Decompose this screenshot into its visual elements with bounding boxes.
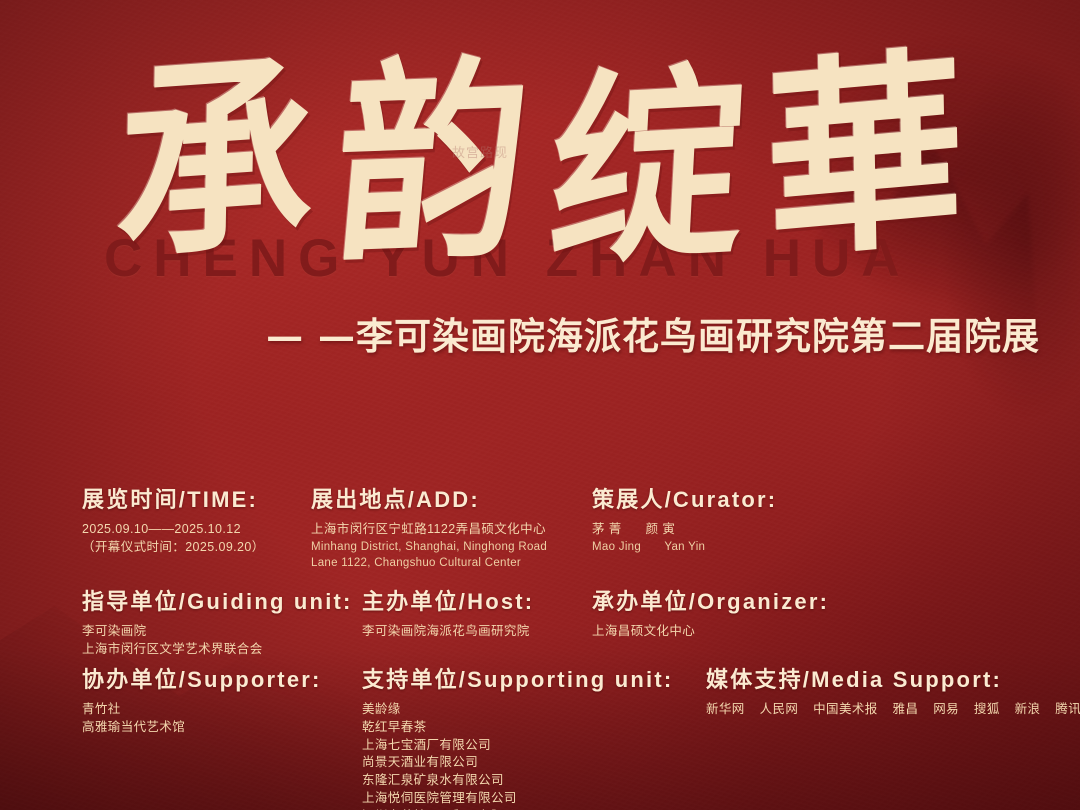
credits-block: 展览时间/TIME: 2025.09.10——2025.10.12 （开幕仪式时… — [0, 468, 1080, 810]
curator-name-cn-1: 茅 菁 — [592, 522, 622, 536]
credit-address: 展出地点/ADD: 上海市闵行区宁虹路1122弄昌硕文化中心 Minhang D… — [311, 482, 547, 571]
credit-supporter: 协办单位/Supporter: 青竹社 高雅瑜当代艺术馆 — [82, 662, 322, 737]
supporting-unit-line-5: 东隆汇泉矿泉水有限公司 — [362, 772, 673, 790]
credit-curator-lines: 茅 菁 颜 寅 Mao Jing Yan Yin — [592, 521, 777, 555]
calligraphy-char-1: 承 — [115, 48, 316, 272]
credit-time-heading: 展览时间/TIME: — [82, 482, 265, 514]
credit-time-line-1: 2025.09.10——2025.10.12 — [82, 521, 265, 539]
credit-guiding-unit-lines: 李可染画院 上海市闵行区文学艺术界联合会 — [82, 623, 353, 659]
credit-supporting-unit: 支持单位/Supporting unit: 美龄缘 乾红早春茶 上海七宝酒厂有限… — [362, 662, 673, 810]
guiding-unit-line-2: 上海市闵行区文学艺术界联合会 — [82, 641, 353, 659]
poster-subtitle: — —李可染画院海派花鸟画研究院第二届院展 — [0, 306, 1040, 360]
credit-organizer-lines: 上海昌硕文化中心 — [592, 623, 829, 641]
curator-name-cn-2: 颜 寅 — [646, 522, 676, 536]
credit-media-support: 媒体支持/Media Support: 新华网 人民网 中国美术报 雅昌 网易 … — [706, 662, 1080, 719]
credit-time: 展览时间/TIME: 2025.09.10——2025.10.12 （开幕仪式时… — [82, 482, 265, 557]
credit-supporter-lines: 青竹社 高雅瑜当代艺术馆 — [82, 701, 322, 737]
exhibition-poster: CHENG YUN ZHAN HUA 承 韵 绽 華 故宫路现 — —李可染画院… — [0, 0, 1080, 810]
media-outlet-1: 新华网 — [706, 702, 745, 716]
credit-address-line-cn: 上海市闵行区宁虹路1122弄昌硕文化中心 — [311, 521, 547, 539]
curator-names-en: Mao Jing Yan Yin — [592, 539, 777, 555]
supporting-unit-line-2: 乾红早春茶 — [362, 719, 673, 737]
supporting-unit-line-6: 上海悦伺医院管理有限公司 — [362, 790, 673, 808]
curator-names-cn: 茅 菁 颜 寅 — [592, 521, 777, 539]
media-outlet-2: 人民网 — [760, 702, 799, 716]
curator-name-en-2: Yan Yin — [664, 541, 705, 553]
credit-address-line-en-1: Minhang District, Shanghai, Ninghong Roa… — [311, 539, 547, 555]
media-outlet-7: 新浪 — [1015, 702, 1041, 716]
media-outlet-5: 网易 — [933, 702, 959, 716]
credit-supporter-heading: 协办单位/Supporter: — [82, 662, 322, 694]
supporting-unit-line-4: 尚景天酒业有限公司 — [362, 754, 673, 772]
credit-media-support-heading: 媒体支持/Media Support: — [706, 662, 1080, 694]
calligraphy-char-2: 韵 — [327, 52, 536, 272]
credit-host-heading: 主办单位/Host: — [362, 584, 534, 616]
credit-time-lines: 2025.09.10——2025.10.12 （开幕仪式时间：2025.09.2… — [82, 521, 265, 557]
credit-address-line-en-2: Lane 1122, Changshuo Cultural Center — [311, 555, 547, 571]
media-outlet-8: 腾讯 — [1055, 702, 1080, 716]
media-outlet-list: 新华网 人民网 中国美术报 雅昌 网易 搜狐 新浪 腾讯 — [706, 701, 1080, 719]
credit-supporting-unit-heading: 支持单位/Supporting unit: — [362, 662, 673, 694]
title-zone: CHENG YUN ZHAN HUA 承 韵 绽 華 故宫路现 — [0, 0, 1080, 300]
credit-host-lines: 李可染画院海派花鸟画研究院 — [362, 623, 534, 641]
credit-guiding-unit: 指导单位/Guiding unit: 李可染画院 上海市闵行区文学艺术界联合会 — [82, 584, 353, 659]
supporting-unit-line-1: 美龄缘 — [362, 701, 673, 719]
supporter-line-2: 高雅瑜当代艺术馆 — [82, 719, 322, 737]
supporter-line-1: 青竹社 — [82, 701, 322, 719]
supporting-unit-line-3: 上海七宝酒厂有限公司 — [362, 737, 673, 755]
credit-time-line-2: （开幕仪式时间：2025.09.20） — [82, 539, 265, 557]
credit-guiding-unit-heading: 指导单位/Guiding unit: — [82, 584, 353, 616]
credit-address-heading: 展出地点/ADD: — [311, 482, 547, 514]
calligraphy-title: 承 韵 绽 華 — [120, 52, 960, 267]
credit-organizer-heading: 承办单位/Organizer: — [592, 584, 829, 616]
calligraphy-char-4: 華 — [764, 43, 966, 270]
credit-supporting-unit-lines: 美龄缘 乾红早春茶 上海七宝酒厂有限公司 尚景天酒业有限公司 东隆汇泉矿泉水有限… — [362, 701, 673, 810]
organizer-line-1: 上海昌硕文化中心 — [592, 623, 829, 641]
credit-host: 主办单位/Host: 李可染画院海派花鸟画研究院 — [362, 584, 534, 641]
guiding-unit-line-1: 李可染画院 — [82, 623, 353, 641]
media-outlet-3: 中国美术报 — [813, 702, 878, 716]
media-outlet-6: 搜狐 — [974, 702, 1000, 716]
credit-curator-heading: 策展人/Curator: — [592, 482, 777, 514]
curator-name-en-1: Mao Jing — [592, 541, 641, 553]
credit-curator: 策展人/Curator: 茅 菁 颜 寅 Mao Jing Yan Yin — [592, 482, 777, 555]
credit-organizer: 承办单位/Organizer: 上海昌硕文化中心 — [592, 584, 829, 641]
calligraphy-char-3: 绽 — [546, 59, 750, 275]
host-line-1: 李可染画院海派花鸟画研究院 — [362, 623, 534, 641]
watermark-text: 故宫路现 — [452, 142, 508, 161]
credit-address-lines: 上海市闵行区宁虹路1122弄昌硕文化中心 Minhang District, S… — [311, 521, 547, 571]
media-outlet-4: 雅昌 — [893, 702, 919, 716]
